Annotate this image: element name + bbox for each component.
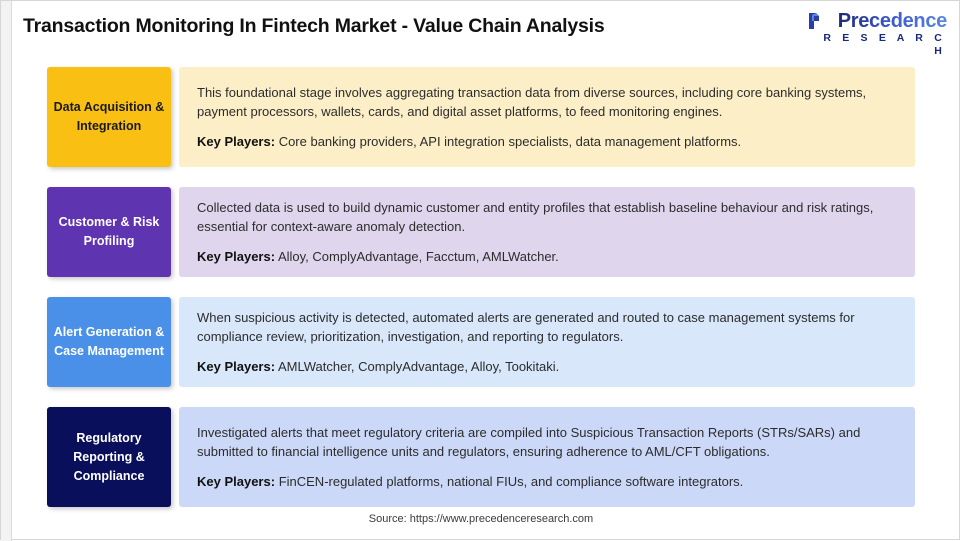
stage-label-block-4[interactable]: Regulatory Reporting & Compliance — [47, 407, 171, 507]
precedence-research-logo: Precedence R E S E A R C H — [807, 11, 947, 51]
stage-description-3: When suspicious activity is detected, au… — [197, 308, 897, 347]
stage-key-players-label-3: Key Players: — [197, 359, 275, 374]
stage-body-1: This foundational stage involves aggrega… — [197, 67, 897, 167]
value-chain-row-3: Alert Generation & Case Management When … — [47, 297, 915, 387]
source-caption: Source: https://www.precedenceresearch.c… — [1, 513, 960, 525]
value-chain-row-2: Customer & Risk Profiling Collected data… — [47, 187, 915, 277]
stage-label-text-2: Customer & Risk Profiling — [47, 213, 171, 251]
value-chain-row-4: Regulatory Reporting & Compliance Invest… — [47, 407, 915, 507]
stage-body-2: Collected data is used to build dynamic … — [197, 187, 897, 277]
stage-label-block-3[interactable]: Alert Generation & Case Management — [47, 297, 171, 387]
stage-key-players-3: Key Players: AMLWatcher, ComplyAdvantage… — [197, 357, 897, 377]
stage-key-players-value-3: AMLWatcher, ComplyAdvantage, Alloy, Took… — [278, 359, 559, 374]
stage-description-2: Collected data is used to build dynamic … — [197, 198, 897, 237]
stage-label-text-3: Alert Generation & Case Management — [47, 323, 171, 361]
stage-key-players-value-4: FinCEN-regulated platforms, national FIU… — [279, 474, 744, 489]
stage-description-1: This foundational stage involves aggrega… — [197, 83, 897, 122]
stage-key-players-value-1: Core banking providers, API integration … — [279, 134, 741, 149]
stage-label-block-2[interactable]: Customer & Risk Profiling — [47, 187, 171, 277]
stage-label-text-4: Regulatory Reporting & Compliance — [47, 429, 171, 486]
logo-subtext: R E S E A R C H — [807, 32, 947, 58]
logo-wordmark: Precedence — [807, 11, 947, 31]
stage-description-4: Investigated alerts that meet regulatory… — [197, 423, 897, 462]
left-gutter-strip — [1, 1, 12, 541]
page-title: Transaction Monitoring In Fintech Market… — [23, 15, 605, 38]
logo-p-icon — [808, 12, 821, 30]
stage-label-block-1[interactable]: Data Acquisition & Integration — [47, 67, 171, 167]
stage-key-players-value-2: Alloy, ComplyAdvantage, Facctum, AMLWatc… — [278, 249, 559, 264]
stage-key-players-4: Key Players: FinCEN-regulated platforms,… — [197, 472, 897, 492]
stage-key-players-label-2: Key Players: — [197, 249, 275, 264]
value-chain-row-1: Data Acquisition & Integration This foun… — [47, 67, 915, 167]
slide-canvas: Transaction Monitoring In Fintech Market… — [0, 0, 960, 540]
stage-key-players-1: Key Players: Core banking providers, API… — [197, 132, 897, 152]
stage-label-text-1: Data Acquisition & Integration — [47, 98, 171, 136]
stage-body-3: When suspicious activity is detected, au… — [197, 297, 897, 387]
logo-word-text: Precedence — [838, 10, 947, 32]
stage-key-players-label-4: Key Players: — [197, 474, 275, 489]
stage-key-players-2: Key Players: Alloy, ComplyAdvantage, Fac… — [197, 247, 897, 267]
slide-header: Transaction Monitoring In Fintech Market… — [1, 1, 960, 57]
stage-key-players-label-1: Key Players: — [197, 134, 275, 149]
stage-body-4: Investigated alerts that meet regulatory… — [197, 407, 897, 507]
